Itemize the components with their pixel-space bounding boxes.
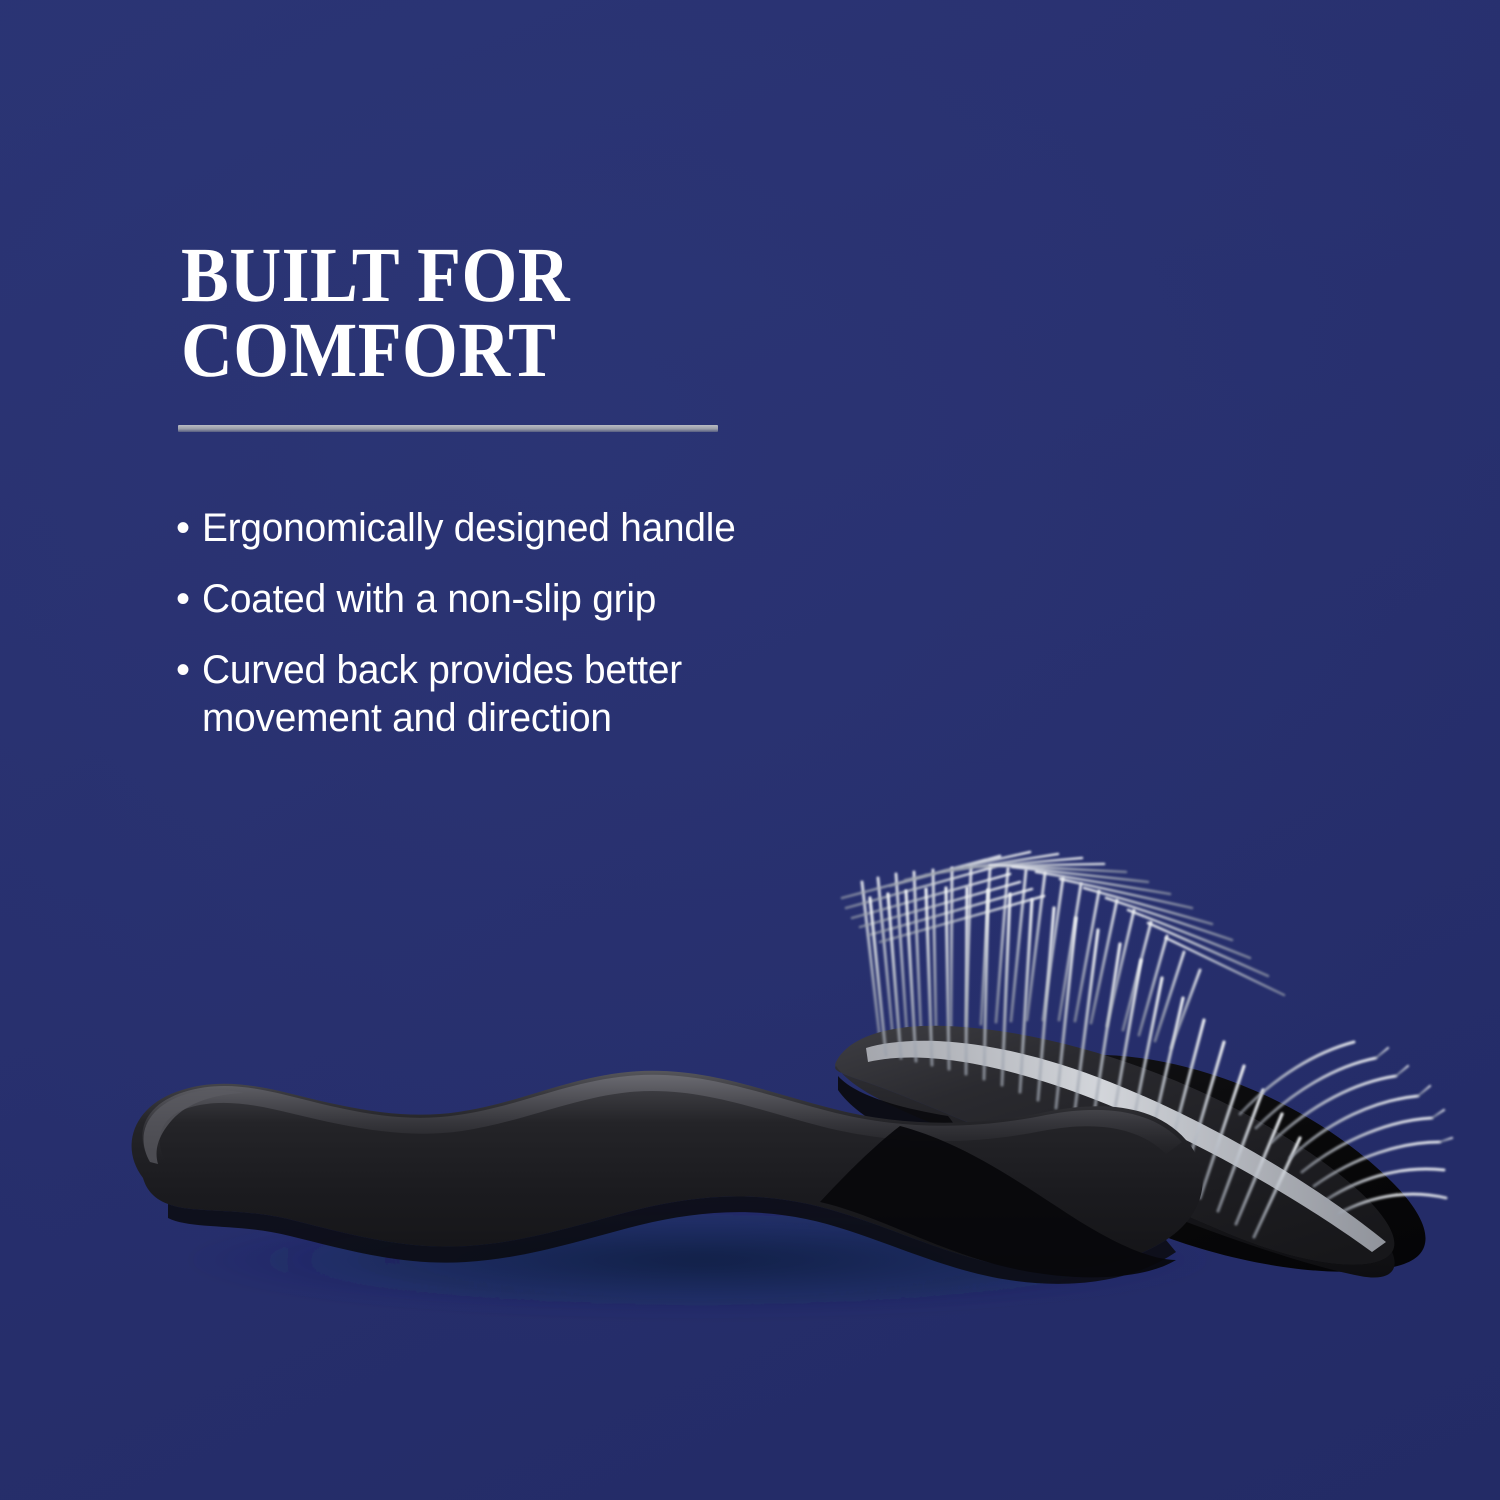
page-title: BUILT FOR COMFORT <box>181 238 825 388</box>
product-image <box>0 790 1500 1350</box>
page-title-line-2: COMFORT <box>181 313 825 388</box>
list-item: • Ergonomically designed handle <box>176 505 936 552</box>
title-divider <box>178 425 718 432</box>
list-item-label: Coated with a non-slip grip <box>202 576 914 623</box>
bullet-dot-icon: • <box>176 576 202 623</box>
hair-brush-illustration <box>0 790 1500 1350</box>
list-item: • Curved back provides better movement a… <box>176 647 936 741</box>
list-item-label: Ergonomically designed handle <box>202 505 914 552</box>
list-item: • Coated with a non-slip grip <box>176 576 936 623</box>
list-item-label: Curved back provides better movement and… <box>202 647 914 741</box>
bullet-dot-icon: • <box>176 505 202 552</box>
feature-list: • Ergonomically designed handle • Coated… <box>176 505 936 766</box>
bullet-dot-icon: • <box>176 647 202 694</box>
marketing-banner: BUILT FOR COMFORT • Ergonomically design… <box>0 0 1500 1500</box>
page-title-line-1: BUILT FOR <box>181 238 825 313</box>
